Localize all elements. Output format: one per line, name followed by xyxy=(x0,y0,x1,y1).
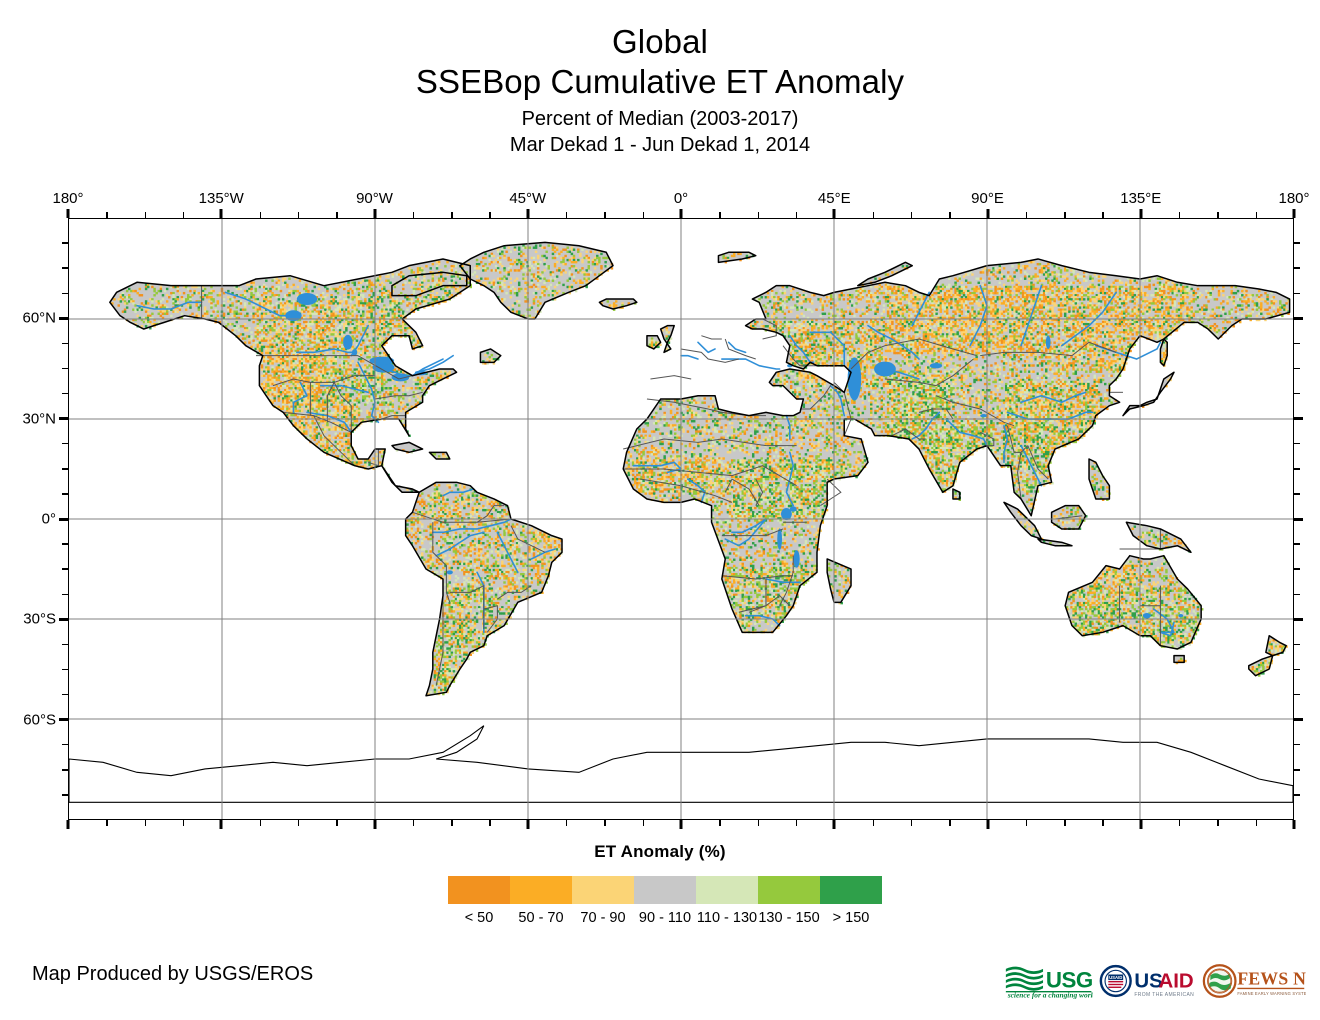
lon-tick xyxy=(1293,209,1296,218)
lon-minor-tick xyxy=(758,820,759,826)
lat-minor-tick xyxy=(1294,393,1300,394)
lat-tick xyxy=(59,618,68,621)
lon-minor-tick xyxy=(489,820,490,826)
fewsnet-tagline: FAMINE EARLY WARNING SYSTEMS NETWORK xyxy=(1237,991,1306,996)
lon-tick xyxy=(833,820,836,829)
lat-tick xyxy=(59,518,68,521)
lake-17 xyxy=(980,414,987,417)
lon-minor-tick xyxy=(873,820,874,826)
lon-minor-tick xyxy=(604,820,605,826)
lat-minor-tick xyxy=(1294,493,1300,494)
lat-minor-tick xyxy=(1294,443,1300,444)
lat-minor-tick xyxy=(1294,368,1300,369)
lon-tick xyxy=(220,209,223,218)
lake-16 xyxy=(1046,336,1051,349)
lon-minor-tick xyxy=(1064,820,1065,826)
lon-minor-tick xyxy=(719,820,720,826)
landmass-sumatra xyxy=(1004,502,1041,539)
lat-minor-tick xyxy=(1294,694,1300,695)
fewsnet-logo[interactable]: FEWS NET FAMINE EARLY WARNING SYSTEMS NE… xyxy=(1202,958,1306,1004)
lon-tick xyxy=(67,820,70,829)
legend-swatch-2[interactable] xyxy=(572,876,634,904)
page-title: Global xyxy=(0,22,1320,62)
lon-minor-tick xyxy=(643,820,644,826)
lake-5 xyxy=(297,293,317,305)
lat-label-0: 0° xyxy=(0,511,56,528)
legend-swatch-5[interactable] xyxy=(758,876,820,904)
lon-minor-tick xyxy=(145,820,146,826)
lat-minor-tick xyxy=(1294,744,1300,745)
country-border-21 xyxy=(725,339,756,359)
lon-label-0: 0° xyxy=(674,190,688,207)
lake-19 xyxy=(1178,614,1183,617)
lat-minor-tick xyxy=(1294,769,1300,770)
lon-tick xyxy=(220,820,223,829)
lat-minor-tick xyxy=(1294,468,1300,469)
lon-minor-tick xyxy=(949,820,950,826)
lon-tick xyxy=(526,209,529,218)
usaid-logo[interactable]: USAID US AID FROM THE AMERICAN PEOPLE xyxy=(1099,958,1196,1004)
lat-minor-tick xyxy=(1294,343,1300,344)
lon-label-90E: 90°E xyxy=(971,190,1004,207)
river-17 xyxy=(681,356,698,359)
legend-label-3: 90 - 110 xyxy=(634,908,696,928)
lon-tick xyxy=(373,209,376,218)
lat-minor-tick xyxy=(1294,644,1300,645)
legend-swatch-6[interactable] xyxy=(820,876,882,904)
page-subtitle-median: Percent of Median (2003-2017) xyxy=(0,106,1320,132)
lat-label-60N: 60°N xyxy=(0,310,56,327)
legend-swatch-4[interactable] xyxy=(696,876,758,904)
usaid-tagline: FROM THE AMERICAN PEOPLE xyxy=(1135,992,1196,998)
lon-tick xyxy=(833,209,836,218)
lat-minor-tick xyxy=(1294,568,1300,569)
lon-tick xyxy=(1139,820,1142,829)
lon-minor-tick xyxy=(1217,820,1218,826)
lon-tick xyxy=(526,820,529,829)
title-block: Global SSEBop Cumulative ET Anomaly Perc… xyxy=(0,0,1320,158)
lat-tick xyxy=(1294,417,1303,420)
lon-tick xyxy=(1139,209,1142,218)
lon-minor-tick xyxy=(298,820,299,826)
world-map[interactable] xyxy=(68,218,1294,820)
lon-tick xyxy=(986,209,989,218)
lat-minor-tick xyxy=(1294,242,1300,243)
lon-tick xyxy=(680,820,683,829)
map-credit: Map Produced by USGS/EROS xyxy=(32,963,313,986)
legend-title: ET Anomaly (%) xyxy=(0,842,1320,862)
fewsnet-wordmark: FEWS NET xyxy=(1237,969,1306,989)
lon-label-180: 180° xyxy=(1278,190,1309,207)
lake-13 xyxy=(848,357,862,400)
lake-20 xyxy=(1143,613,1151,618)
lat-minor-tick xyxy=(1294,293,1300,294)
logo-strip: USGS science for a changing world USAID … xyxy=(1004,957,1306,1005)
usgs-wordmark: USGS xyxy=(1046,968,1093,993)
lon-tick xyxy=(986,820,989,829)
lake-11 xyxy=(790,506,797,511)
legend-label-2: 70 - 90 xyxy=(572,908,634,928)
lat-tick xyxy=(1294,718,1303,721)
lat-tick xyxy=(59,417,68,420)
lat-tick xyxy=(1294,317,1303,320)
map-canvas[interactable] xyxy=(69,219,1293,819)
legend-label-1: 50 - 70 xyxy=(510,908,572,928)
legend-swatch-1[interactable] xyxy=(510,876,572,904)
landmass-greenland xyxy=(460,242,613,319)
usgs-logo[interactable]: USGS science for a changing world xyxy=(1004,958,1093,1004)
lon-minor-tick xyxy=(911,820,912,826)
lon-minor-tick xyxy=(1256,820,1257,826)
lon-label-135W: 135°W xyxy=(199,190,244,207)
legend-class-labels: < 5050 - 7070 - 9090 - 110110 - 130130 -… xyxy=(448,908,882,928)
lake-18 xyxy=(447,570,453,574)
lon-minor-tick xyxy=(566,820,567,826)
usaid-wordmark-aid: AID xyxy=(1159,970,1194,993)
legend-label-6: > 150 xyxy=(820,908,882,928)
country-border-18 xyxy=(650,376,691,379)
lon-minor-tick xyxy=(1102,820,1103,826)
legend-label-5: 130 - 150 xyxy=(758,908,820,928)
lat-tick xyxy=(1294,618,1303,621)
lon-minor-tick xyxy=(1026,820,1027,826)
lake-15 xyxy=(930,363,942,368)
lat-tick xyxy=(1294,518,1303,521)
lon-minor-tick xyxy=(796,820,797,826)
lat-tick xyxy=(59,718,68,721)
lon-minor-tick xyxy=(260,820,261,826)
lon-tick xyxy=(680,209,683,218)
lon-minor-tick xyxy=(183,820,184,826)
lat-label-30N: 30°N xyxy=(0,410,56,427)
lon-tick xyxy=(373,820,376,829)
lat-tick xyxy=(59,317,68,320)
lon-tick xyxy=(1293,820,1296,829)
legend-color-bar[interactable] xyxy=(448,876,882,904)
page-subtitle-period: Mar Dekad 1 - Jun Dekad 1, 2014 xyxy=(0,132,1320,158)
lon-label-45E: 45°E xyxy=(818,190,851,207)
river-18 xyxy=(729,342,746,352)
lon-tick xyxy=(67,209,70,218)
lat-minor-tick xyxy=(1294,594,1300,595)
lon-label-45W: 45°W xyxy=(509,190,546,207)
lat-label-30S: 30°S xyxy=(0,611,56,628)
lat-minor-tick xyxy=(1294,669,1300,670)
lon-label-180: 180° xyxy=(52,190,83,207)
legend-label-0: < 50 xyxy=(448,908,510,928)
legend: ET Anomaly (%) xyxy=(0,842,1320,862)
lon-minor-tick xyxy=(451,820,452,826)
river-16 xyxy=(698,342,715,352)
river-19 xyxy=(722,359,780,369)
lat-minor-tick xyxy=(1294,794,1300,795)
lon-minor-tick xyxy=(413,820,414,826)
lake-10 xyxy=(794,550,800,567)
fewsnet-globe-icon xyxy=(1204,965,1236,997)
lat-minor-tick xyxy=(1294,543,1300,544)
legend-label-4: 110 - 130 xyxy=(696,908,758,928)
legend-swatch-0[interactable] xyxy=(448,876,510,904)
lat-minor-tick xyxy=(1294,267,1300,268)
country-border-20 xyxy=(701,336,721,339)
lon-minor-tick xyxy=(336,820,337,826)
usaid-seal: USAID xyxy=(1101,966,1131,996)
lake-9 xyxy=(777,528,782,549)
page-subtitle: SSEBop Cumulative ET Anomaly xyxy=(0,62,1320,102)
lake-6 xyxy=(343,335,353,350)
lon-label-135E: 135°E xyxy=(1120,190,1161,207)
lon-minor-tick xyxy=(106,820,107,826)
lon-minor-tick xyxy=(1179,820,1180,826)
legend-swatch-3[interactable] xyxy=(634,876,696,904)
lon-label-90W: 90°W xyxy=(356,190,393,207)
lat-label-60S: 60°S xyxy=(0,711,56,728)
map-page: Global SSEBop Cumulative ET Anomaly Perc… xyxy=(0,0,1320,1020)
